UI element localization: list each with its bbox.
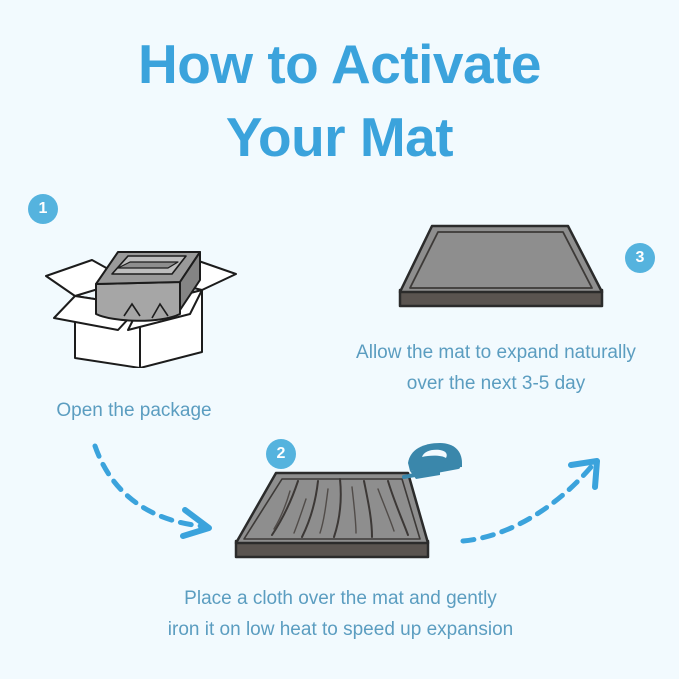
step-caption-2-line-2: iron it on low heat to speed up expansio… — [108, 614, 573, 645]
step-caption-2-line-1: Place a cloth over the mat and gently — [108, 583, 573, 614]
step-caption-3: Allow the mat to expand naturally over t… — [320, 337, 672, 400]
step-caption-1-line-1: Open the package — [0, 395, 268, 426]
page-title-line-2: Your Mat — [0, 101, 679, 174]
arrow-step1-to-step2-icon — [85, 440, 235, 550]
flat-mat-illustration — [396, 218, 606, 323]
step-badge-3: 3 — [625, 243, 655, 273]
step-caption-3-line-2: over the next 3-5 day — [320, 368, 672, 399]
step-caption-1: Open the package — [0, 395, 268, 426]
step-caption-2: Place a cloth over the mat and gently ir… — [108, 583, 573, 646]
page-title-line-1: How to Activate — [0, 28, 679, 101]
infographic-root: How to Activate Your Mat 1 Open the pac — [0, 0, 679, 679]
open-box-illustration — [40, 218, 240, 368]
arrow-step2-to-step3-icon — [455, 445, 615, 555]
page-title: How to Activate Your Mat — [0, 28, 679, 173]
step-caption-3-line-1: Allow the mat to expand naturally — [320, 337, 672, 368]
